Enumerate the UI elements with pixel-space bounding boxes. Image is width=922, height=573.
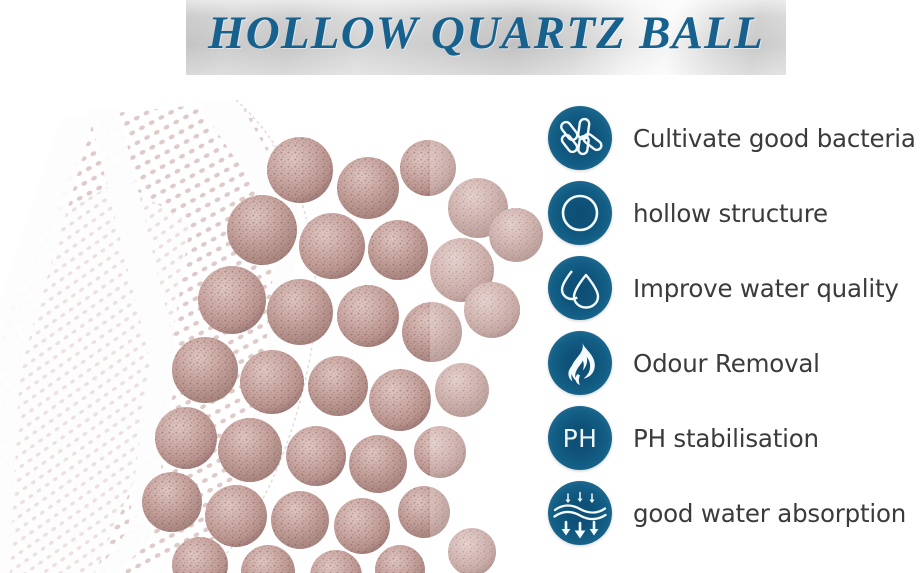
- feature-item-cultivate-good-bacteria[interactable]: Cultivate good bacteria: [548, 104, 922, 172]
- water-drops-icon: [548, 256, 612, 320]
- hollow-circle-icon: [548, 181, 612, 245]
- product-photo: [0, 60, 545, 573]
- feature-label: Odour Removal: [633, 349, 922, 378]
- feature-label: Cultivate good bacteria: [633, 124, 922, 153]
- flame-icon: [548, 331, 612, 395]
- water-absorption-icon: [548, 481, 612, 545]
- feature-item-good-water-absorption[interactable]: good water absorption: [548, 479, 922, 547]
- feature-item-hollow-structure[interactable]: hollow structure: [548, 179, 922, 247]
- ph-icon-text: PH: [563, 424, 598, 453]
- page-title: HOLLOW QUARTZ BALL: [186, 6, 786, 60]
- feature-label: good water absorption: [633, 499, 922, 528]
- feature-item-odour-removal[interactable]: Odour Removal: [548, 329, 922, 397]
- feature-item-improve-water-quality[interactable]: Improve water quality: [548, 254, 922, 322]
- bacteria-icon: [548, 106, 612, 170]
- feature-list: Cultivate good bacteria hollow structure: [548, 100, 922, 573]
- feature-label: hollow structure: [633, 199, 922, 228]
- infographic-canvas: HOLLOW QUARTZ BALL Cultivate good bacter…: [0, 0, 922, 573]
- feature-label: Improve water quality: [633, 274, 922, 303]
- product-photo-illustration: [0, 60, 545, 573]
- feature-item-ph-stabilisation[interactable]: PH PH stabilisation: [548, 404, 922, 472]
- title-banner: HOLLOW QUARTZ BALL: [186, 0, 786, 75]
- ph-icon: PH: [548, 406, 612, 470]
- feature-label: PH stabilisation: [633, 424, 922, 453]
